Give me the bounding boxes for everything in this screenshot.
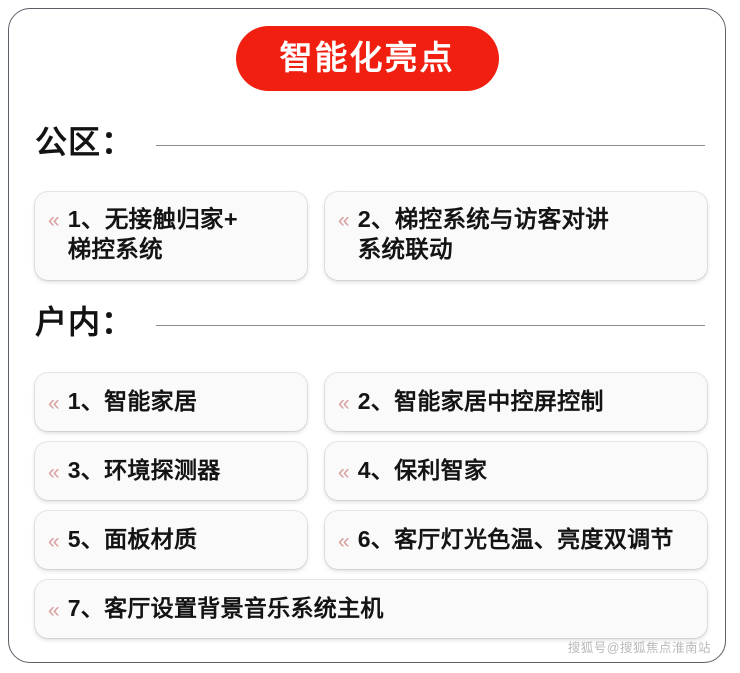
card-row-indoor-1: « 1、智能家居 « 2、智能家居中控屏控制	[35, 373, 707, 431]
chevron-left-double-icon: «	[48, 210, 59, 231]
list-item[interactable]: « 1、无接触归家+ 梯控系统	[35, 192, 307, 280]
chevron-left-double-icon: «	[48, 531, 59, 552]
list-item-label: 7、客厅设置背景音乐系统主机	[68, 594, 384, 623]
list-item-label: 6、客厅灯光色温、亮度双调节	[358, 525, 674, 554]
title-bar: 智能化亮点	[9, 26, 725, 91]
list-item[interactable]: « 1、智能家居	[35, 373, 307, 431]
list-item[interactable]: « 4、保利智家	[325, 442, 707, 500]
list-item-label: 1、无接触归家+ 梯控系统	[68, 205, 238, 265]
list-item-label: 5、面板材质	[68, 525, 198, 554]
list-item[interactable]: « 3、环境探测器	[35, 442, 307, 500]
list-item-label: 3、环境探测器	[68, 456, 221, 485]
card-row-indoor-4: « 7、客厅设置背景音乐系统主机	[35, 580, 707, 638]
page-title: 智能化亮点	[236, 26, 499, 91]
list-item-label: 1、智能家居	[68, 387, 198, 416]
section-divider	[156, 145, 705, 146]
section-divider	[156, 325, 705, 326]
list-item[interactable]: « 2、梯控系统与访客对讲 系统联动	[325, 192, 707, 280]
watermark-text: 搜狐号@搜狐焦点淮南站	[568, 637, 711, 656]
poster-container: 智能化亮点 公区： « 1、无接触归家+ 梯控系统 « 2、梯控系统与访客对讲 …	[8, 8, 726, 663]
card-row-public-area: « 1、无接触归家+ 梯控系统 « 2、梯控系统与访客对讲 系统联动	[35, 192, 707, 280]
list-item[interactable]: « 7、客厅设置背景音乐系统主机	[35, 580, 707, 638]
chevron-left-double-icon: «	[338, 210, 349, 231]
list-item[interactable]: « 2、智能家居中控屏控制	[325, 373, 707, 431]
section-heading-label: 公区：	[35, 126, 134, 158]
list-item[interactable]: « 6、客厅灯光色温、亮度双调节	[325, 511, 707, 569]
list-item-label: 4、保利智家	[358, 456, 488, 485]
chevron-left-double-icon: «	[48, 600, 59, 621]
chevron-left-double-icon: «	[338, 462, 349, 483]
chevron-left-double-icon: «	[48, 462, 59, 483]
chevron-left-double-icon: «	[48, 393, 59, 414]
list-item-label: 2、梯控系统与访客对讲 系统联动	[358, 205, 609, 265]
chevron-left-double-icon: «	[338, 531, 349, 552]
list-item-label: 2、智能家居中控屏控制	[358, 387, 604, 416]
card-row-indoor-2: « 3、环境探测器 « 4、保利智家	[35, 442, 707, 500]
section-heading-label: 户内：	[35, 306, 134, 338]
list-item[interactable]: « 5、面板材质	[35, 511, 307, 569]
chevron-left-double-icon: «	[338, 393, 349, 414]
section-heading-indoor: 户内：	[35, 306, 715, 338]
card-row-indoor-3: « 5、面板材质 « 6、客厅灯光色温、亮度双调节	[35, 511, 707, 569]
section-heading-public-area: 公区：	[35, 126, 715, 158]
